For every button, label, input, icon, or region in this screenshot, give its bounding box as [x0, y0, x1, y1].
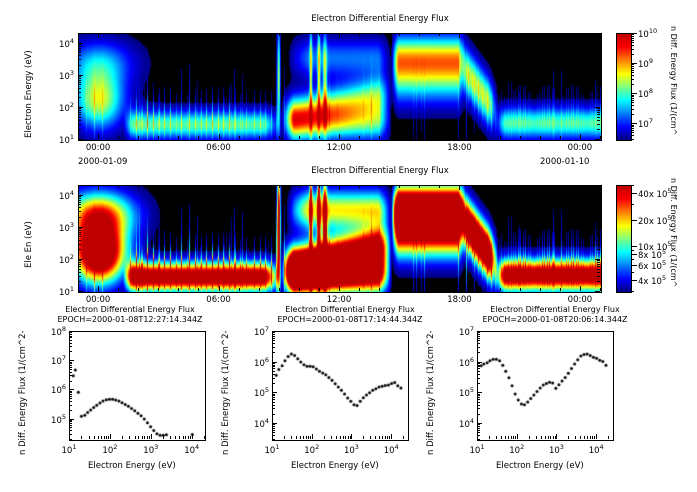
- xminor: [379, 288, 380, 291]
- cbminor: [631, 109, 634, 110]
- xminor: [98, 436, 99, 439]
- xminor-top: [399, 185, 400, 188]
- minor-tick: [597, 65, 600, 66]
- xminor-top: [319, 33, 320, 36]
- xminor: [511, 436, 512, 439]
- xminor: [118, 288, 119, 291]
- yminor: [477, 334, 480, 335]
- panel1-cbtick-8: 108: [638, 87, 653, 100]
- xminor: [101, 436, 102, 439]
- yminor: [477, 336, 480, 337]
- xminor: [385, 436, 386, 439]
- minor-tick: [597, 59, 600, 60]
- xminor: [179, 436, 180, 439]
- yminor: [477, 374, 480, 375]
- xtickmark: [98, 286, 99, 291]
- panel2-xtick-2: 12:00: [323, 295, 355, 305]
- minor-tick: [597, 46, 600, 47]
- xtickmark: [580, 134, 581, 139]
- xminor: [363, 436, 364, 439]
- panel1-cbtick-9: 109: [638, 57, 653, 70]
- minor-tick: [597, 269, 600, 270]
- minor-tick: [597, 234, 600, 235]
- spectrum1-ytick-6: 106: [42, 383, 66, 396]
- yminor: [69, 365, 72, 366]
- cbminor: [631, 130, 634, 131]
- minor-tick: [597, 112, 600, 113]
- minor-tick: [78, 110, 81, 111]
- spectrum1-epoch: EPOCH=2000-01-08T12:27:14.344Z: [30, 315, 230, 324]
- minor-tick: [597, 249, 600, 250]
- yminor: [69, 398, 72, 399]
- xminor: [188, 436, 189, 439]
- xminor-top: [158, 33, 159, 36]
- cbminor: [631, 38, 634, 39]
- yminor: [272, 439, 275, 440]
- xminor: [303, 436, 304, 439]
- xminor: [308, 436, 309, 439]
- panel2-colorbar-label: n Diff. Energy Flux (1/(cm^: [669, 178, 678, 287]
- xminor-top: [259, 33, 260, 36]
- spectrum3-xtick-1: 101: [464, 443, 490, 456]
- yminor: [69, 391, 72, 392]
- spectrum3-ytick-6: 106: [450, 356, 474, 369]
- minor-tick: [597, 217, 600, 218]
- xminor: [170, 436, 171, 439]
- xminor: [299, 288, 300, 291]
- xminor: [600, 288, 601, 291]
- xminor-top: [138, 33, 139, 36]
- xminor: [545, 436, 546, 439]
- yminor: [272, 334, 275, 335]
- xminor-top: [239, 33, 240, 36]
- xminor-top: [480, 33, 481, 36]
- spectrum3-xtick-4: 104: [583, 443, 609, 456]
- spectrum1-xtickmark: [192, 434, 193, 439]
- panel1-plot-area: [78, 33, 602, 141]
- xminor: [348, 436, 349, 439]
- cbminor: [631, 95, 634, 96]
- xminor: [520, 288, 521, 291]
- xminor-top: [439, 33, 440, 36]
- xtickmark: [339, 134, 340, 139]
- yminor: [69, 336, 72, 337]
- xminor: [345, 436, 346, 439]
- cbminor: [631, 272, 634, 273]
- panel1-colorbar-label: n Diff. Energy Flux (1/(cm^: [669, 26, 678, 135]
- xminor: [296, 436, 297, 439]
- yminor: [477, 332, 480, 333]
- yminor: [69, 351, 72, 352]
- minor-tick: [78, 46, 81, 47]
- minor-tick: [78, 59, 81, 60]
- xminor-top: [198, 33, 199, 36]
- xminor: [439, 288, 440, 291]
- panel2-xtick-3: 18:00: [443, 295, 475, 305]
- minor-tick: [78, 196, 81, 197]
- xminor: [500, 288, 501, 291]
- xminor-top: [399, 33, 400, 36]
- minor-tick: [78, 76, 81, 77]
- yminor: [477, 343, 480, 344]
- yminor: [477, 397, 480, 398]
- xminor: [508, 436, 509, 439]
- xminor: [550, 436, 551, 439]
- xminor: [359, 136, 360, 139]
- spectrum2-xlabel: Electron Energy (eV): [291, 461, 379, 471]
- panel1-cbtick-7: 107: [638, 117, 653, 130]
- yminor: [69, 392, 72, 393]
- xminor: [370, 436, 371, 439]
- xminor: [319, 136, 320, 139]
- xminor-top: [500, 185, 501, 188]
- minor-tick: [78, 97, 81, 98]
- xminor: [584, 436, 585, 439]
- yminor: [477, 347, 480, 348]
- xminor: [259, 136, 260, 139]
- spectrum1-ytick-7: 107: [42, 354, 66, 367]
- cbminor: [631, 125, 634, 126]
- xminor-top: [319, 185, 320, 188]
- cbminor: [631, 66, 634, 67]
- spectrum1-plot-area: [69, 331, 206, 441]
- cbminor: [631, 34, 634, 35]
- xminor: [359, 288, 360, 291]
- minor-tick: [597, 52, 600, 53]
- minor-tick: [597, 264, 600, 265]
- xminor-top: [78, 33, 79, 36]
- cbminor: [631, 220, 634, 221]
- panel1-xtick-1: 06:00: [203, 143, 235, 153]
- yminor: [69, 420, 72, 421]
- yminor: [272, 336, 275, 337]
- minor-tick: [78, 264, 81, 265]
- minor-tick: [78, 117, 81, 118]
- cbminor: [631, 291, 634, 292]
- xminor: [399, 136, 400, 139]
- spectrum3-ylabel: n Diff. Energy Flux (1/(cm^2-: [426, 330, 436, 455]
- xtickmark-top: [580, 33, 581, 38]
- spectrum1-xtickmark: [69, 434, 70, 439]
- xminor: [183, 436, 184, 439]
- yminor: [272, 378, 275, 379]
- minor-tick: [78, 52, 81, 53]
- yminor: [477, 408, 480, 409]
- xminor-top: [560, 185, 561, 188]
- cbminor: [631, 40, 634, 41]
- xminor-top: [600, 185, 601, 188]
- minor-tick: [597, 114, 600, 115]
- xminor: [300, 436, 301, 439]
- xminor: [279, 136, 280, 139]
- spectrum3-ytick-7: 107: [450, 325, 474, 338]
- minor-tick: [597, 228, 600, 229]
- spectrum3-xtickmark: [596, 434, 597, 439]
- xminor: [500, 136, 501, 139]
- minor-tick: [597, 110, 600, 111]
- xminor-top: [299, 33, 300, 36]
- spectrum2-ytick-5: 105: [245, 386, 269, 399]
- minor-tick: [597, 230, 600, 231]
- xminor-top: [439, 185, 440, 188]
- yminor: [272, 399, 275, 400]
- spectrum2-plot-area: [272, 331, 409, 441]
- minor-tick: [78, 112, 81, 113]
- yminor: [477, 365, 480, 366]
- cbminor: [631, 49, 634, 50]
- panel1-ytick-1: 101: [48, 133, 74, 146]
- spectrum3-xtick-2: 102: [504, 443, 530, 456]
- yminor: [272, 397, 275, 398]
- minor-tick: [78, 198, 81, 199]
- xtickmark: [339, 286, 340, 291]
- panel2-colorbar: [616, 185, 632, 293]
- xminor: [587, 436, 588, 439]
- cbminor: [631, 132, 634, 133]
- xminor: [142, 436, 143, 439]
- xminor: [540, 288, 541, 291]
- spectrum2-title: Electron Differential Energy Flux: [250, 305, 450, 314]
- xminor: [568, 436, 569, 439]
- yminor: [69, 362, 72, 363]
- yminor: [69, 439, 72, 440]
- yminor: [477, 371, 480, 372]
- xminor: [144, 436, 145, 439]
- spectrum1-ylabel: n Diff. Energy Flux (1/(cm^2-: [18, 330, 28, 455]
- minor-tick: [78, 211, 81, 212]
- xminor: [489, 436, 490, 439]
- minor-tick: [78, 65, 81, 66]
- minor-tick: [78, 50, 81, 51]
- cbminor: [631, 185, 634, 186]
- xminor-top: [239, 185, 240, 188]
- spectrum2-ytick-6: 106: [245, 356, 269, 369]
- minor-tick: [78, 44, 81, 45]
- yminor: [69, 375, 72, 376]
- spectrum1-title: Electron Differential Energy Flux: [30, 305, 230, 314]
- xminor-top: [379, 33, 380, 36]
- panel1-ytickmark-r-1: [595, 139, 600, 140]
- yminor: [272, 368, 275, 369]
- xminor: [178, 136, 179, 139]
- yminor: [272, 426, 275, 427]
- cbminor: [631, 45, 634, 46]
- xminor: [592, 436, 593, 439]
- panel2-ytick-4: 104: [48, 189, 74, 202]
- panel1-cbtick-10: 1010: [638, 27, 657, 40]
- spectrum1-xtick-2: 102: [97, 443, 123, 456]
- xminor-top: [299, 185, 300, 188]
- xminor: [185, 436, 186, 439]
- minor-tick: [78, 269, 81, 270]
- spectrum2-xtick-1: 101: [259, 443, 285, 456]
- minor-tick: [78, 129, 81, 130]
- yminor: [272, 402, 275, 403]
- yminor: [69, 332, 72, 333]
- xtickmark-top: [339, 185, 340, 190]
- panel2-ytick-3: 103: [48, 221, 74, 234]
- yminor: [69, 410, 72, 411]
- yminor: [69, 337, 72, 338]
- xminor-top: [379, 185, 380, 188]
- spectrum2-xtick-3: 103: [338, 443, 364, 456]
- cbminor: [631, 102, 634, 103]
- yminor: [477, 352, 480, 353]
- yminor: [69, 394, 72, 395]
- xtickmark-top: [580, 185, 581, 190]
- minor-tick: [597, 266, 600, 267]
- spectrum3-xtickmark: [517, 434, 518, 439]
- minor-tick: [597, 211, 600, 212]
- xminor-top: [520, 33, 521, 36]
- xminor: [299, 136, 300, 139]
- minor-tick: [78, 124, 81, 125]
- xminor: [379, 136, 380, 139]
- panel2-plot-area: [78, 185, 602, 293]
- yminor: [272, 363, 275, 364]
- xminor: [608, 436, 609, 439]
- yminor: [272, 366, 275, 367]
- minor-tick: [78, 230, 81, 231]
- xminor: [480, 288, 481, 291]
- xminor: [284, 436, 285, 439]
- cbminor: [631, 280, 634, 281]
- minor-tick: [78, 228, 81, 229]
- panel1-ytick-2: 102: [48, 101, 74, 114]
- minor-tick: [597, 207, 600, 208]
- minor-tick: [597, 76, 600, 77]
- minor-tick: [78, 202, 81, 203]
- spectrum2-xtickmark: [312, 434, 313, 439]
- minor-tick: [597, 108, 600, 109]
- xminor-top: [178, 33, 179, 36]
- xminor: [324, 436, 325, 439]
- xminor: [178, 288, 179, 291]
- spectrum1-xtickmark: [151, 434, 152, 439]
- yminor: [477, 414, 480, 415]
- xminor: [198, 136, 199, 139]
- yminor: [69, 334, 72, 335]
- xtickmark-top: [98, 33, 99, 38]
- xminor: [399, 288, 400, 291]
- xtickmark: [580, 286, 581, 291]
- minor-tick: [597, 117, 600, 118]
- xminor-top: [138, 185, 139, 188]
- minor-tick: [78, 217, 81, 218]
- xminor: [419, 288, 420, 291]
- xminor: [536, 436, 537, 439]
- xminor-top: [359, 185, 360, 188]
- xminor-top: [279, 185, 280, 188]
- xminor: [403, 436, 404, 439]
- xtickmark-top: [219, 185, 220, 190]
- minor-tick: [597, 244, 600, 245]
- xminor: [158, 288, 159, 291]
- xminor: [389, 436, 390, 439]
- xtickmark-top: [98, 185, 99, 190]
- spectrum2-xtickmark: [272, 434, 273, 439]
- panel2-ytickmark-1: [78, 291, 83, 292]
- cbminor: [631, 254, 634, 255]
- yminor: [272, 428, 275, 429]
- xtickmark: [98, 134, 99, 139]
- spectrum3-ytick-5: 105: [450, 386, 474, 399]
- yminor: [69, 423, 72, 424]
- spectrum2-xtick-4: 104: [378, 443, 404, 456]
- minor-tick: [597, 129, 600, 130]
- xminor: [147, 436, 148, 439]
- yminor: [272, 340, 275, 341]
- minor-tick: [78, 272, 81, 273]
- xminor: [190, 436, 191, 439]
- panel2-cbtick-4: 20x 105: [638, 214, 672, 227]
- xtickmark-top: [459, 185, 460, 190]
- yminor: [477, 366, 480, 367]
- minor-tick: [78, 249, 81, 250]
- yminor: [272, 414, 275, 415]
- xminor-top: [259, 185, 260, 188]
- yminor: [69, 381, 72, 382]
- spectrum3-xtickmark: [477, 434, 478, 439]
- xminor-top: [359, 33, 360, 36]
- panel2-xtick-0: 00:00: [82, 295, 114, 305]
- cbminor: [631, 75, 634, 76]
- yminor: [69, 363, 72, 364]
- xminor: [163, 436, 164, 439]
- panel2-ylabel: Ele En (eV): [24, 221, 34, 268]
- panel2-cbtick-3: 10x 105: [638, 240, 672, 253]
- xtickmark-top: [219, 33, 220, 38]
- xminor: [387, 436, 388, 439]
- spectrum3-title: Electron Differential Energy Flux: [455, 305, 655, 314]
- xminor-top: [560, 33, 561, 36]
- panel2-title: Electron Differential Energy Flux: [155, 166, 605, 176]
- panel1-xtick-4: 00:00: [564, 143, 596, 153]
- xminor-top: [540, 185, 541, 188]
- xtickmark-top: [339, 33, 340, 38]
- yminor: [69, 372, 72, 373]
- xminor: [108, 436, 109, 439]
- xminor-top: [118, 185, 119, 188]
- cbminor: [631, 54, 634, 55]
- yminor: [69, 396, 72, 397]
- xminor: [600, 136, 601, 139]
- xminor: [553, 436, 554, 439]
- xminor-top: [600, 33, 601, 36]
- minor-tick: [78, 234, 81, 235]
- minor-tick: [78, 108, 81, 109]
- panel1-xtick-3: 18:00: [443, 143, 475, 153]
- yminor: [477, 383, 480, 384]
- spectrum1-ytick-5: 105: [42, 413, 66, 426]
- minor-tick: [597, 124, 600, 125]
- cbminor: [631, 84, 634, 85]
- xminor-top: [198, 185, 199, 188]
- xminor: [78, 136, 79, 139]
- xminor: [513, 436, 514, 439]
- xminor: [279, 288, 280, 291]
- panel2-xtick-4: 00:00: [564, 295, 596, 305]
- xminor: [106, 436, 107, 439]
- cbminor: [631, 98, 634, 99]
- panel1-title: Electron Differential Energy Flux: [155, 14, 605, 24]
- yminor: [272, 395, 275, 396]
- yminor: [477, 395, 480, 396]
- panel1-date-left: 2000-01-09: [78, 157, 127, 167]
- minor-tick: [78, 78, 81, 79]
- minor-tick: [78, 260, 81, 261]
- yminor: [69, 346, 72, 347]
